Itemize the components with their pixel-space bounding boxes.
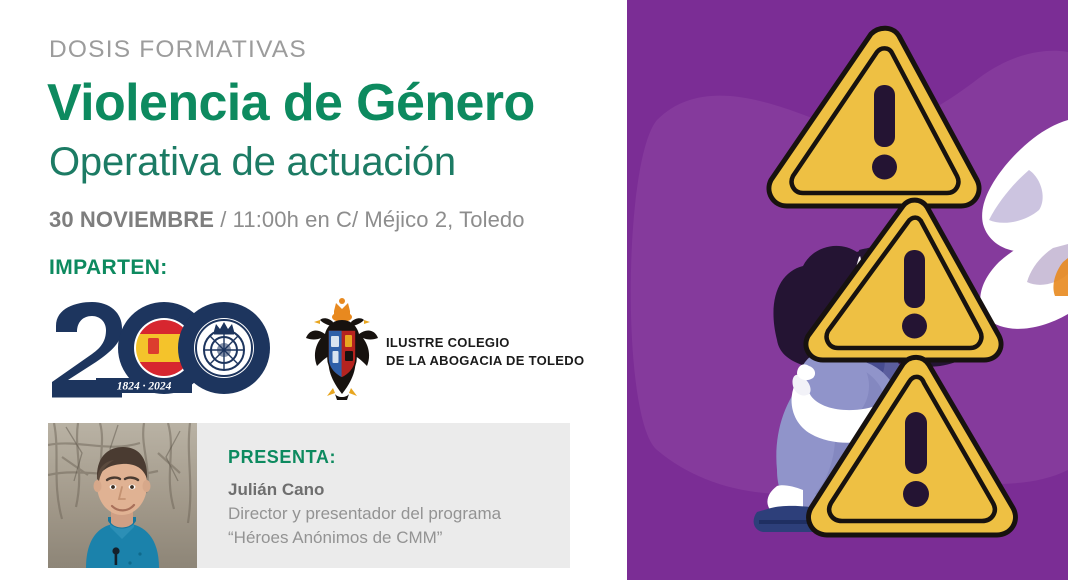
event-poster: DOSIS FORMATIVAS Violencia de Género Ope…: [0, 0, 1068, 580]
eyebrow-label: DOSIS FORMATIVAS: [49, 36, 307, 64]
presenter-name: Julián Cano: [228, 478, 558, 502]
exclamation-dot-3: [903, 481, 929, 507]
event-time-location: / 11:00h en C/ Méjico 2, Toledo: [214, 207, 525, 232]
presenter-role-line2: “Héroes Anónimos de CMM”: [228, 526, 558, 550]
presenter-card: PRESENTA: Julián Cano Director y present…: [48, 423, 570, 568]
page-subtitle: Operativa de actuación: [49, 140, 456, 184]
page-title: Violencia de Género: [47, 76, 535, 131]
left-content-panel: DOSIS FORMATIVAS Violencia de Género Ope…: [0, 0, 627, 580]
exclamation-bar-1: [874, 85, 895, 147]
presenter-role-line1: Director y presentador del programa: [228, 502, 558, 526]
policia-nacional-200-logo: 1824 · 2024: [48, 300, 270, 398]
ilustre-colegio-abogacia-toledo-logo: ILUSTRE COLEGIO DE LA ABOGACIA DE TOLEDO: [303, 296, 593, 400]
seated-woman-with-warning-signs-illustration: [627, 0, 1068, 580]
exclamation-bar-3: [905, 412, 927, 474]
imparten-heading: IMPARTEN:: [49, 256, 168, 280]
illustration-panel: [627, 0, 1068, 580]
abogacia-logo-line1: ILUSTRE COLEGIO: [386, 334, 584, 352]
event-datetime-location: 30 NOVIEMBRE / 11:00h en C/ Méjico 2, To…: [49, 207, 525, 233]
exclamation-dot-2: [902, 314, 927, 339]
abogacia-logo-line2: DE LA ABOGACIA DE TOLEDO: [386, 352, 584, 370]
presenta-label: PRESENTA:: [228, 447, 558, 468]
abogacia-logo-text: ILUSTRE COLEGIO DE LA ABOGACIA DE TOLEDO: [386, 334, 584, 369]
event-date: 30 NOVIEMBRE: [49, 207, 214, 232]
exclamation-bar-2: [904, 250, 925, 308]
policia-logo-years: 1824 · 2024: [117, 381, 172, 393]
presenter-info: PRESENTA: Julián Cano Director y present…: [228, 447, 558, 550]
exclamation-dot-1: [872, 155, 897, 180]
presenter-photo: [48, 423, 197, 568]
organizer-logos: 1824 · 2024: [48, 296, 588, 401]
